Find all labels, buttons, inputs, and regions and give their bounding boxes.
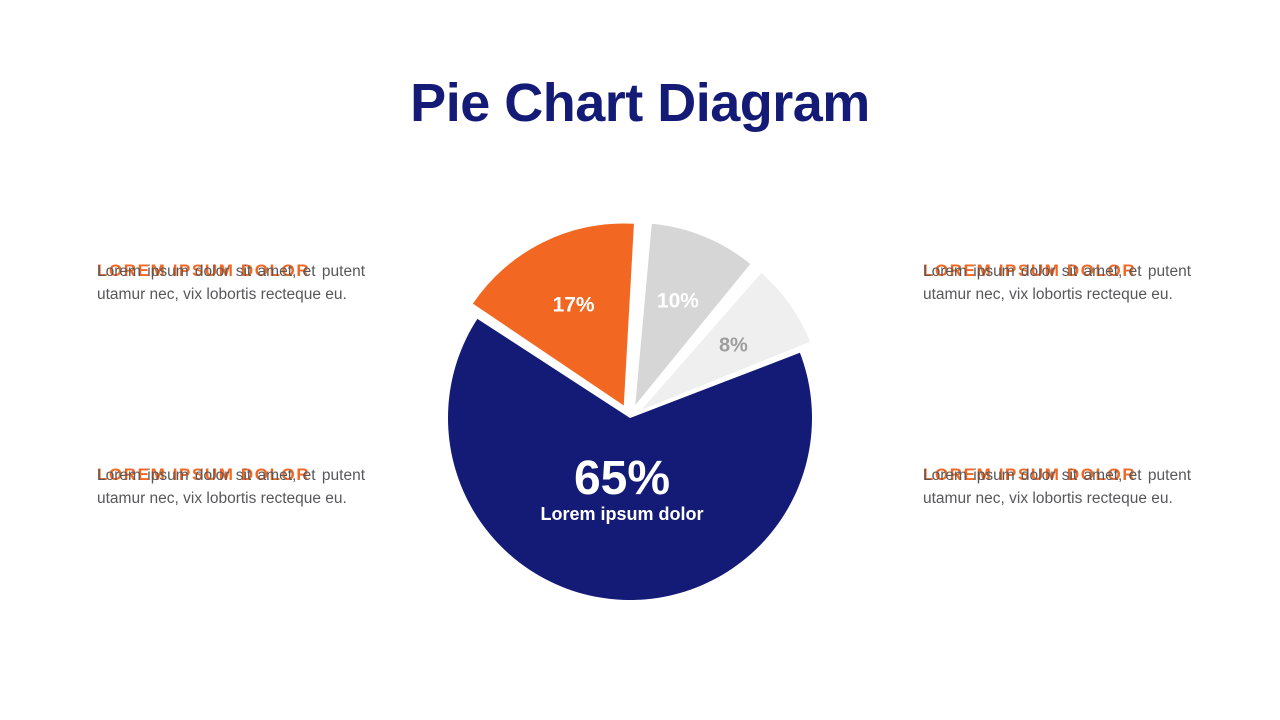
block-body: Lorem ipsum dolor sit amet, et putent ut… (97, 464, 365, 511)
block-body: Lorem ipsum dolor sit amet, et putent ut… (923, 464, 1191, 511)
slice-label-17: 17% (553, 293, 595, 316)
slice-sublabel-main: Lorem ipsum dolor (541, 504, 704, 524)
slice-label-65: 65% (574, 452, 670, 505)
text-block-top-left: LOREM IPSUM DOLOR Lorem ipsum dolor sit … (97, 260, 365, 307)
pie-slices (448, 223, 812, 600)
slide-canvas: Pie Chart Diagram LOREM IPSUM DOLOR Lore… (0, 0, 1280, 720)
text-block-bottom-left: LOREM IPSUM DOLOR Lorem ipsum dolor sit … (97, 464, 365, 511)
text-block-bottom-right: LOREM IPSUM DOLOR Lorem ipsum dolor sit … (923, 464, 1191, 511)
slice-label-10: 10% (657, 290, 699, 313)
text-block-top-right: LOREM IPSUM DOLOR Lorem ipsum dolor sit … (923, 260, 1191, 307)
pie-chart-svg: 17% 10% 8% 65% Lorem ipsum dolor (420, 200, 860, 630)
block-body: Lorem ipsum dolor sit amet, et putent ut… (923, 260, 1191, 307)
page-title: Pie Chart Diagram (0, 74, 1280, 133)
block-body: Lorem ipsum dolor sit amet, et putent ut… (97, 260, 365, 307)
slice-label-8: 8% (719, 335, 748, 357)
pie-chart: 17% 10% 8% 65% Lorem ipsum dolor (420, 200, 860, 630)
